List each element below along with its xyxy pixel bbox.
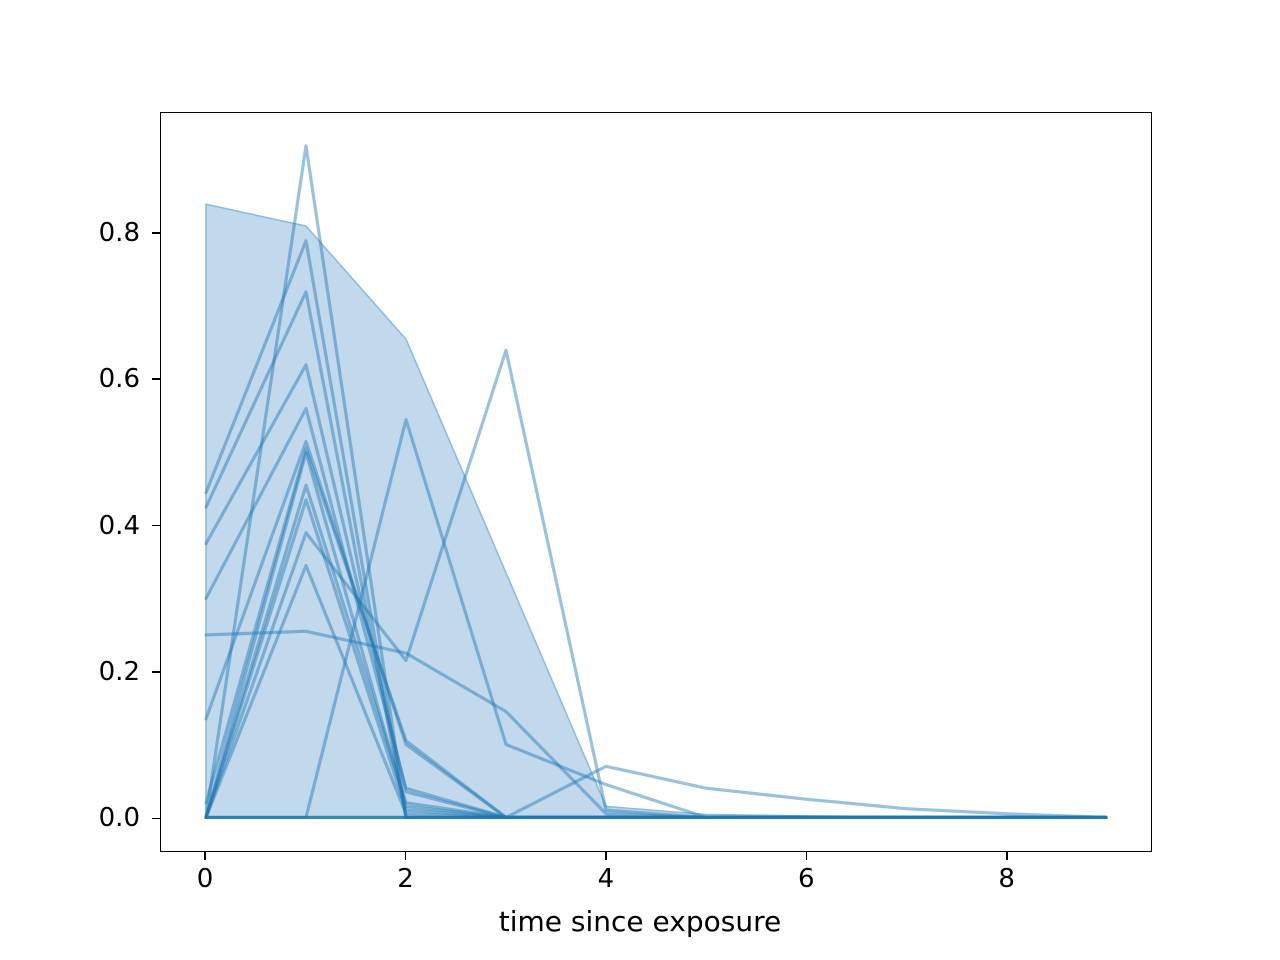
x-tick-mark <box>405 852 407 860</box>
x-tick-mark <box>204 852 206 860</box>
x-tick-label: 0 <box>197 866 214 892</box>
x-tick-label: 2 <box>397 866 414 892</box>
x-tick-label: 6 <box>798 866 815 892</box>
x-tick-mark <box>605 852 607 860</box>
x-tick-mark <box>1006 852 1008 860</box>
figure-canvas: 0.00.20.40.60.8 02468 time since exposur… <box>0 0 1280 960</box>
x-axis-ticks: 02468 <box>0 0 1280 960</box>
x-tick-label: 8 <box>998 866 1015 892</box>
x-tick-mark <box>806 852 808 860</box>
x-tick-label: 4 <box>598 866 615 892</box>
x-axis-label: time since exposure <box>0 905 1280 938</box>
